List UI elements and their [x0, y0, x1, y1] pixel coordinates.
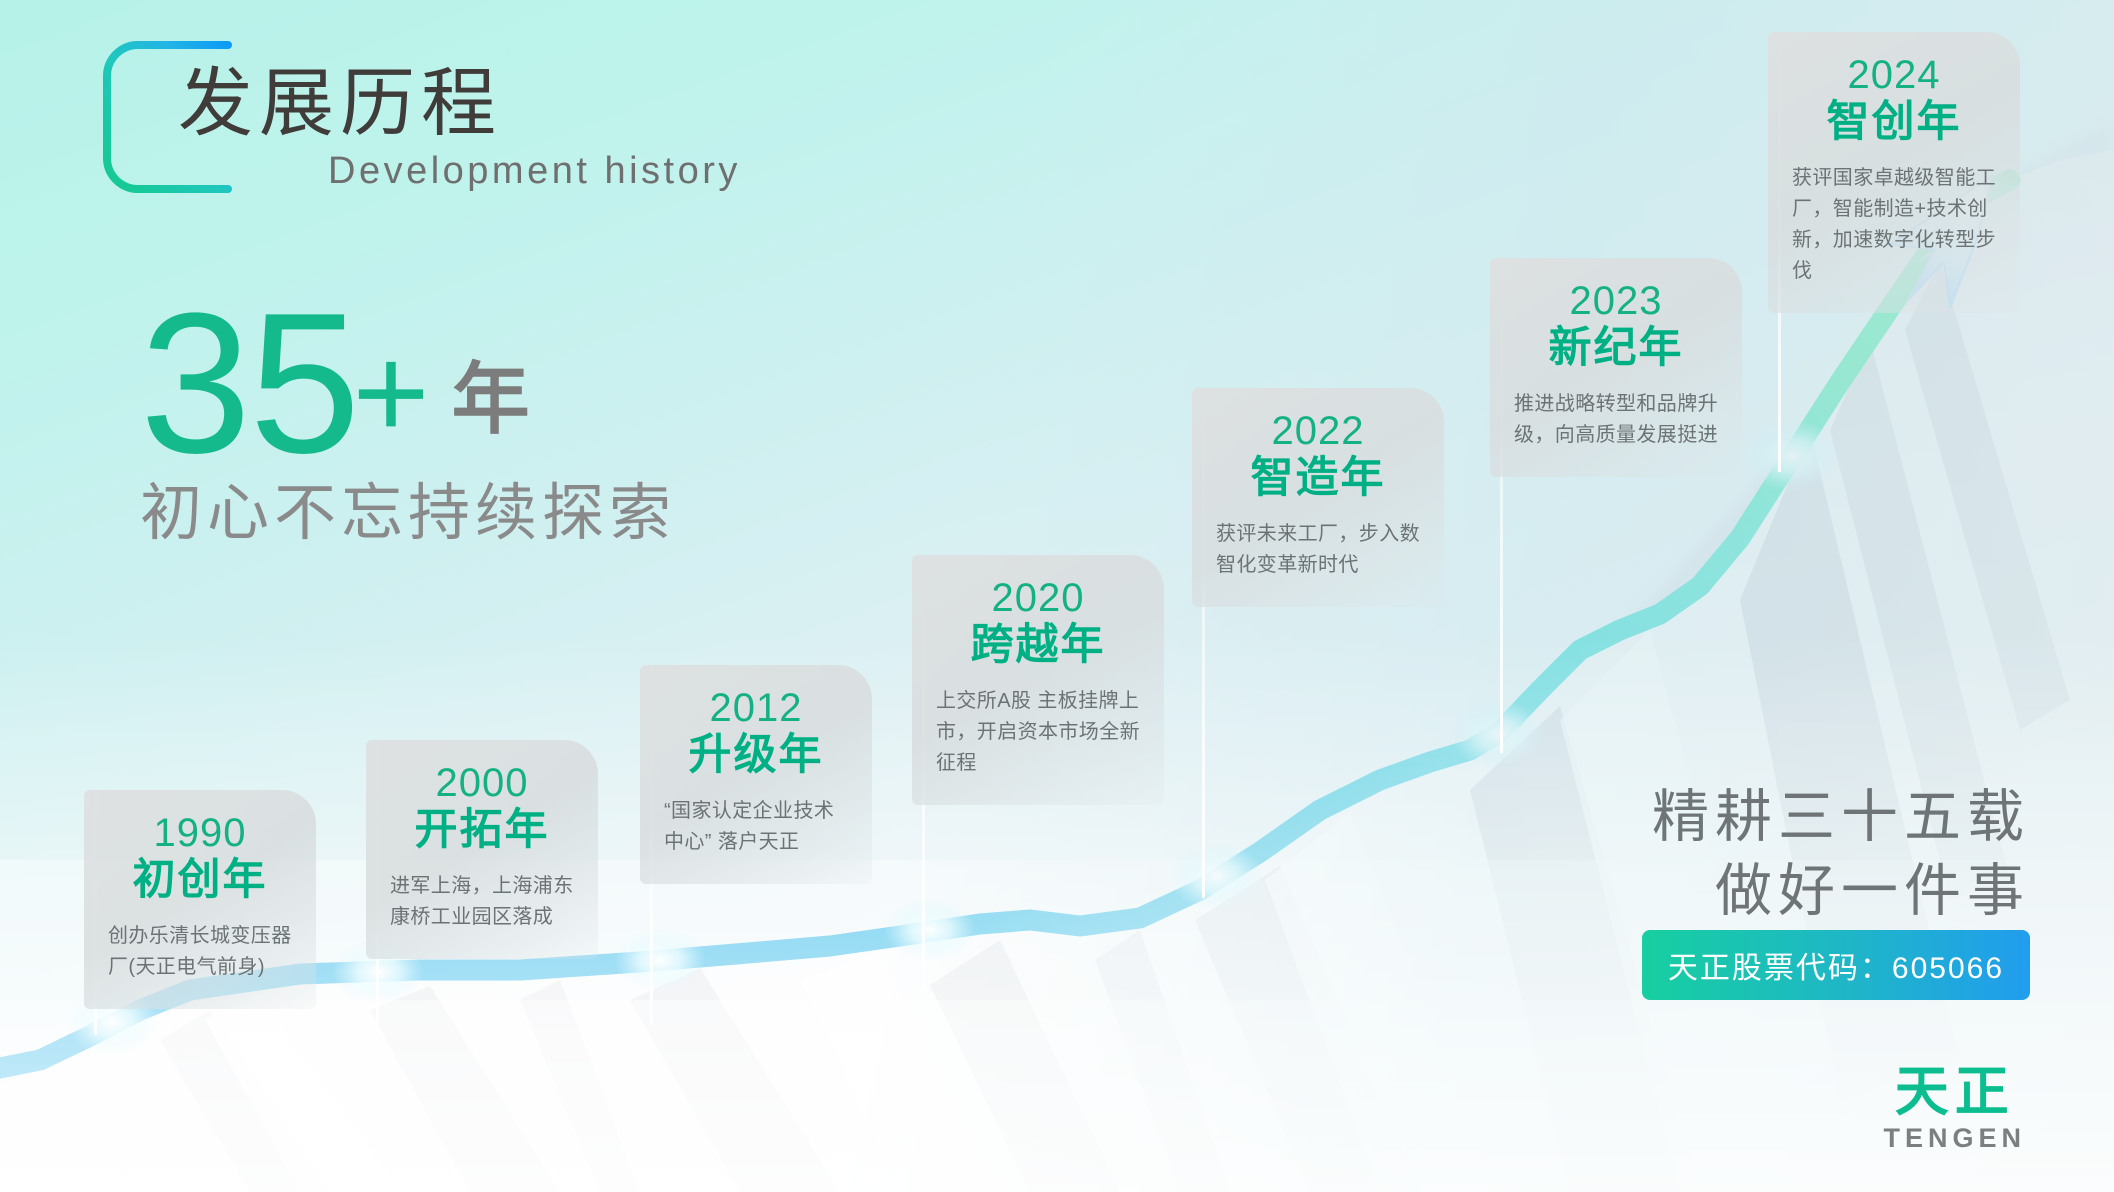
slogan-line-1: 精耕三十五载: [1652, 780, 2030, 854]
kpi-plus: +: [352, 319, 429, 466]
milestone-name: 智造年: [1210, 454, 1426, 503]
kpi-number: 35: [140, 272, 358, 495]
milestone-year: 2022: [1210, 410, 1426, 452]
milestone-desc: 获评国家卓越级智能工厂，智能制造+技术创新，加速数字化转型步伐: [1786, 163, 2002, 287]
milestone-year: 2000: [384, 762, 580, 804]
milestone-name: 智创年: [1786, 98, 2002, 147]
milestone-card-2024[interactable]: 2024 智创年 获评国家卓越级智能工厂，智能制造+技术创新，加速数字化转型步伐: [1768, 32, 2020, 313]
page-title: 发展历程: [178, 66, 502, 141]
milestone-name: 跨越年: [930, 621, 1146, 670]
logo-en-text: TENGEN: [1883, 1125, 2026, 1152]
milestone-year: 1990: [102, 812, 298, 854]
milestone-card-1990[interactable]: 1990 初创年 创办乐清长城变压器厂(天正电气前身): [84, 790, 316, 1009]
milestone-desc: 进军上海，上海浦东康桥工业园区落成: [384, 871, 580, 933]
company-logo: 天正 TENGEN: [1883, 1065, 2026, 1152]
milestone-name: 初创年: [102, 856, 298, 905]
milestone-year: 2012: [658, 687, 854, 729]
milestone-desc: 上交所A股 主板挂牌上市，开启资本市场全新征程: [930, 686, 1146, 779]
milestone-name: 新纪年: [1508, 324, 1724, 373]
milestone-name: 开拓年: [384, 806, 580, 855]
slideshow-canvas: 发展历程 Development history 35+年 初心不忘持续探索 1…: [0, 0, 2114, 1192]
milestone-desc: 获评未来工厂，步入数智化变革新时代: [1210, 519, 1426, 581]
milestone-desc: “国家认定企业技术中心” 落户天正: [658, 796, 854, 858]
slogan-line-2: 做好一件事: [1652, 854, 2030, 928]
milestone-year: 2024: [1786, 54, 2002, 96]
brand-slogan: 精耕三十五载 做好一件事: [1652, 780, 2030, 928]
stock-code-badge: 天正股票代码：605066: [1642, 930, 2030, 1000]
milestone-year: 2020: [930, 577, 1146, 619]
milestone-name: 升级年: [658, 731, 854, 780]
milestone-desc: 创办乐清长城变压器厂(天正电气前身): [102, 921, 298, 983]
milestone-desc: 推进战略转型和品牌升级，向高质量发展挺进: [1508, 389, 1724, 451]
page-subtitle: Development history: [328, 152, 741, 190]
milestone-card-2022[interactable]: 2022 智造年 获评未来工厂，步入数智化变革新时代: [1192, 388, 1444, 607]
milestone-card-2000[interactable]: 2000 开拓年 进军上海，上海浦东康桥工业园区落成: [366, 740, 598, 959]
years-kpi: 35+年 初心不忘持续探索: [140, 292, 676, 548]
kpi-unit: 年: [452, 355, 530, 443]
milestone-card-2012[interactable]: 2012 升级年 “国家认定企业技术中心” 落户天正: [640, 665, 872, 884]
kpi-tagline: 初心不忘持续探索: [140, 480, 676, 548]
logo-cn-text: 天正: [1883, 1065, 2026, 1119]
page-header: 发展历程 Development history: [98, 30, 798, 220]
milestone-card-2023[interactable]: 2023 新纪年 推进战略转型和品牌升级，向高质量发展挺进: [1490, 258, 1742, 477]
milestone-year: 2023: [1508, 280, 1724, 322]
milestone-card-2020[interactable]: 2020 跨越年 上交所A股 主板挂牌上市，开启资本市场全新征程: [912, 555, 1164, 805]
